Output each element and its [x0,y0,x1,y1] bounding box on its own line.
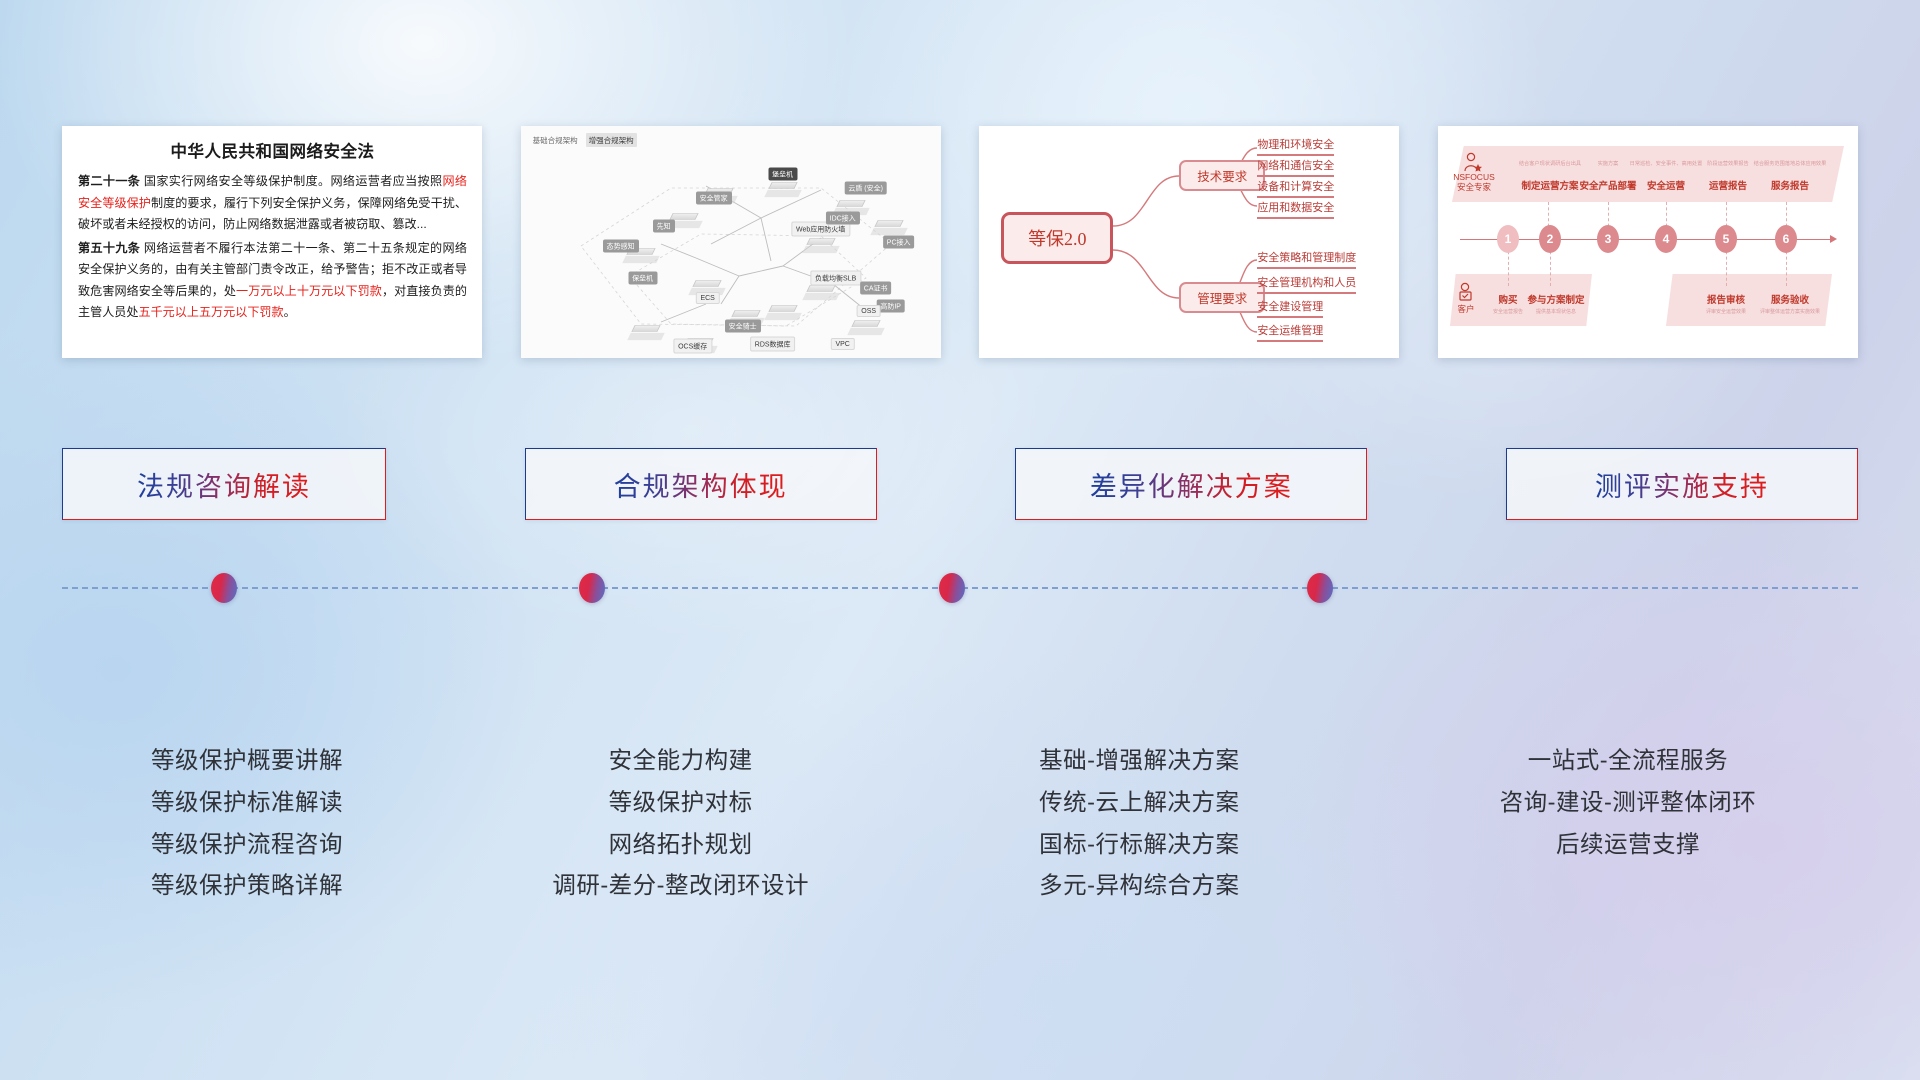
arch-node-security-housekeeper: 安全管家 [696,192,732,205]
timeline [62,568,1858,608]
flow-step-3-top-label: 安全产品部署 [1579,178,1636,192]
flow-step-5-bottom-label: 报告审核 [1707,292,1745,306]
list-item: 等级保护流程咨询 [62,824,432,866]
flow-step-2-top-label: 制定运营方案 [1521,178,1578,192]
article-59-highlight-2: 五千元以上五万元以下罚款 [138,305,283,319]
list-item: 等级保护策略详解 [62,865,432,907]
flow-step-6-top-label: 服务报告 [1771,178,1809,192]
list-column-regulation-consulting: 等级保护概要讲解 等级保护标准解读 等级保护流程咨询 等级保护策略详解 [62,740,432,970]
timeline-dot-4[interactable] [1307,573,1333,603]
title-label-differentiated-solution: 差异化解决方案 [1090,465,1293,504]
list-item: 后续运营支撑 [1398,824,1858,866]
list-column-assessment-support: 一站式-全流程服务 咨询-建设-测评整体闭环 后续运营支撑 [1398,740,1858,970]
arch-node-prophet: 先知 [653,220,675,233]
flow-step-3-marker: 3 [1597,225,1619,253]
flow-step-2-bottom-label: 参与方案制定 [1527,292,1584,306]
list-item: 基础-增强解决方案 [929,740,1349,782]
list-item: 网络拓扑规划 [481,824,881,866]
list-item: 安全能力构建 [481,740,881,782]
arch-cube-pc [876,218,902,234]
card-service-flow: NSFOCUS 安全专家 客户 [1438,126,1858,358]
arch-cube-waf [808,236,834,252]
flow-step-3-top-sub: 实施方案 [1598,160,1619,167]
flow-step-4-top-sub: 日常巡检、安全事件、高用处置 [1630,160,1703,167]
list-item: 多元-异构综合方案 [929,865,1349,907]
arch-node-ocs-cache: OCS缓存 [673,339,712,354]
list-row: 等级保护概要讲解 等级保护标准解读 等级保护流程咨询 等级保护策略详解 安全能力… [62,740,1858,970]
mindmap-root-node: 等保2.0 [1001,212,1113,264]
article-21-label: 第二十一条 [78,174,140,188]
timeline-dot-2[interactable] [579,573,605,603]
mindmap-branch-management: 管理要求 [1179,282,1265,313]
arch-cube-oss [853,318,879,334]
law-article-59: 第五十九条 网络运营者不履行本法第二十一条、第二十五条规定的网络安全保护义务的，… [78,238,467,324]
list-item: 等级保护标准解读 [62,782,432,824]
title-box-assessment-support[interactable]: 测评实施支持 [1506,448,1858,520]
mindmap-leaf-app-data: 应用和数据安全 [1257,199,1334,219]
flow-step-6-top-sub: 结合服务范围落地总体应用效果 [1754,160,1827,167]
article-59-label: 第五十九条 [78,241,140,255]
timeline-dot-3[interactable] [939,573,965,603]
list-item: 一站式-全流程服务 [1398,740,1858,782]
title-row: 法规咨询解读 合规架构体现 差异化解决方案 测评实施支持 [62,448,1858,520]
list-item: 咨询-建设-测评整体闭环 [1398,782,1858,824]
slide-page: 中华人民共和国网络安全法 第二十一条 国家实行网络安全等级保护制度。网络运营者应… [0,0,1920,1080]
list-item: 调研-差分-整改闭环设计 [481,865,881,907]
arch-cube-rds [770,303,796,319]
timeline-dot-1[interactable] [211,573,237,603]
title-label-regulation-consulting: 法规咨询解读 [137,465,311,504]
list-item: 等级保护概要讲解 [62,740,432,782]
arch-node-security-knight: 安全骑士 [725,320,761,333]
mindmap-leaf-ops-mgmt: 安全运维管理 [1257,322,1323,342]
flow-band-provider [1452,146,1844,202]
card-dengbao-mindmap: 等保2.0 技术要求 物理和环境安全 网络和通信安全 设备和计算安全 应用和数据… [979,126,1399,358]
arch-node-slb: 负载均衡SLB [810,271,861,286]
arch-node-ca-certificate: CA证书 [860,282,892,295]
arch-node-pc-access: PC接入 [883,236,915,249]
mindmap-leaf-device-compute: 设备和计算安全 [1257,178,1334,198]
article-59-text-c: 。 [284,305,296,319]
arch-node-bastion-host: 堡垒机 [768,168,797,181]
title-box-compliance-architecture[interactable]: 合规架构体现 [525,448,877,520]
flow-actor-provider: NSFOCUS 安全专家 [1453,172,1495,192]
flow-step-1-bottom-sub: 安全运营报告 [1493,308,1523,315]
law-article-21: 第二十一条 国家实行网络安全等级保护制度。网络运营者应当按照网络安全等级保护制度… [78,171,467,236]
article-21-text-a: 国家实行网络安全等级保护制度。网络运营者应当按照 [144,174,443,188]
title-box-differentiated-solution[interactable]: 差异化解决方案 [1015,448,1367,520]
flow-actor-provider-role: 安全专家 [1453,182,1495,192]
flow-step-2-bottom-sub: 提供基本现状信息 [1536,308,1576,315]
card-compliance-architecture: 基础合规架构 增强合规架构 [521,126,941,358]
article-59-highlight-1: 一万元以上十万元以下罚款 [236,284,382,298]
flow-actor-customer-role: 客户 [1457,304,1474,314]
title-label-assessment-support: 测评实施支持 [1595,465,1769,504]
flow-step-5-marker: 5 [1715,225,1737,253]
list-column-compliance-architecture: 安全能力构建 等级保护对标 网络拓扑规划 调研-差分-整改闭环设计 [481,740,881,970]
flow-timeline-arrow [1830,235,1837,243]
arch-node-idc-access: IDC接入 [826,212,860,225]
title-label-compliance-architecture: 合规架构体现 [614,465,788,504]
customer-person-icon [1456,282,1476,304]
mindmap-leaf-physical-env: 物理和环境安全 [1257,136,1334,156]
list-column-differentiated-solution: 基础-增强解决方案 传统-云上解决方案 国标-行标解决方案 多元-异构综合方案 [929,740,1349,970]
flow-step-2-marker: 2 [1539,225,1561,253]
flow-step-5-top-label: 运营报告 [1709,178,1747,192]
arch-node-ecs: ECS [695,292,719,304]
mindmap-leaf-construction-mgmt: 安全建设管理 [1257,298,1323,318]
mindmap-branch-technical: 技术要求 [1179,160,1265,191]
arch-node-vpc: VPC [830,338,854,350]
arch-node-cloud-shield: 云盾 (安全) [844,182,887,195]
arch-node-rds-database: RDS数据库 [750,337,796,352]
arch-node-situational-awareness: 态势感知 [603,240,639,253]
architecture-canvas: 先知 态势感知 安全管家 堡垒机 保垒机 ECS 安全骑士 OCS缓存 RDS数… [521,126,941,358]
flow-step-5-bottom-sub: 评审安全运营效果 [1706,308,1746,315]
law-card-title: 中华人民共和国网络安全法 [78,138,467,162]
expert-person-icon [1462,152,1484,172]
flow-step-4-marker: 4 [1655,225,1677,253]
flow-step-6-bottom-sub: 评审整体运营方案实施效果 [1760,308,1820,315]
flow-step-4-top-label: 安全运营 [1647,178,1685,192]
flow-actor-customer: 客户 [1457,304,1474,314]
list-item: 传统-云上解决方案 [929,782,1349,824]
card-cybersecurity-law: 中华人民共和国网络安全法 第二十一条 国家实行网络安全等级保护制度。网络运营者应… [62,126,482,358]
flow-actor-provider-name: NSFOCUS [1453,172,1495,182]
list-item: 等级保护对标 [481,782,881,824]
mindmap-leaf-org-personnel: 安全管理机构和人员 [1257,274,1356,294]
arch-node-jump-server: 保垒机 [628,272,657,285]
flow-step-6-marker: 6 [1775,225,1797,253]
flow-step-2-top-sub: 结合客户现状调研后台出具 [1519,160,1581,167]
arch-node-oss: OSS [856,305,881,317]
arch-cube-vpc [633,323,659,339]
flow-step-1-marker: 1 [1497,225,1519,253]
flow-step-1-bottom-label: 购买 [1498,292,1517,306]
mindmap-leaf-network-comm: 网络和通信安全 [1257,157,1334,177]
title-box-regulation-consulting[interactable]: 法规咨询解读 [62,448,386,520]
flow-step-6-bottom-label: 服务验收 [1771,292,1809,306]
arch-cube-shield [770,180,796,196]
card-row: 中华人民共和国网络安全法 第二十一条 国家实行网络安全等级保护制度。网络运营者应… [62,126,1858,358]
mindmap-leaf-policy-system: 安全策略和管理制度 [1257,249,1356,269]
flow-step-5-top-sub: 阶段运营效果报告 [1707,160,1749,167]
list-item: 国标-行标解决方案 [929,824,1349,866]
